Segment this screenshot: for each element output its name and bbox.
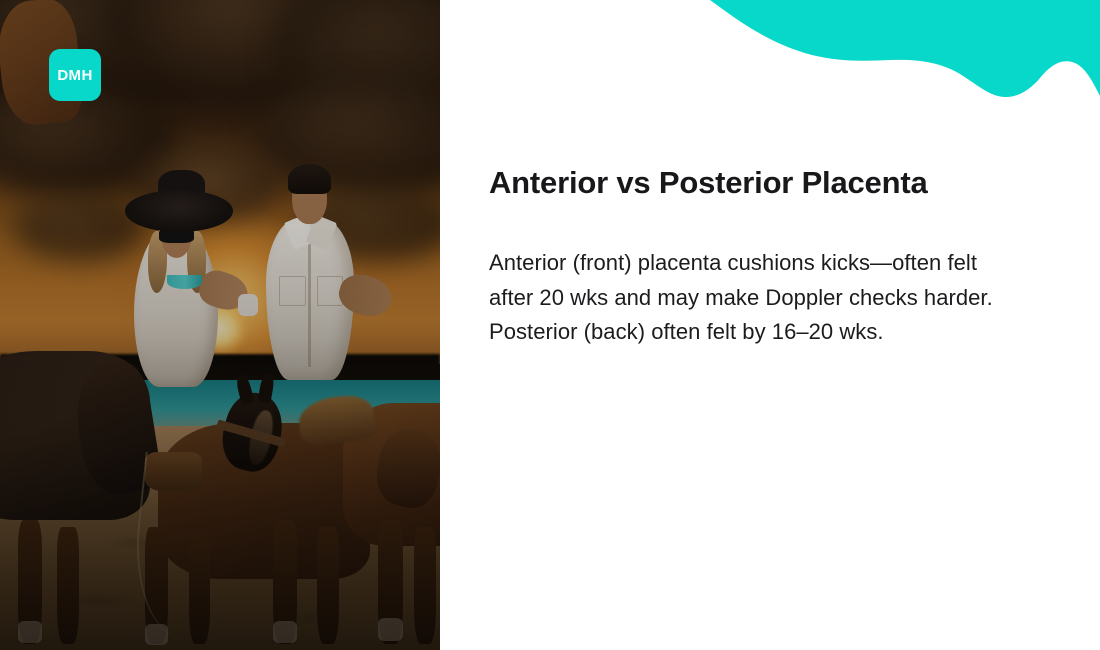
content-panel: Anterior vs Posterior Placenta Anterior …: [440, 0, 1100, 650]
media-panel: DMH: [0, 0, 440, 650]
slide-root: DMH Anterior vs Posterior Placenta Anter…: [0, 0, 1100, 650]
logo-badge[interactable]: DMH: [49, 49, 101, 101]
text-block: Anterior vs Posterior Placenta Anterior …: [489, 164, 1009, 350]
page-title: Anterior vs Posterior Placenta: [489, 164, 1009, 202]
wave-decoration: [440, 0, 1100, 120]
body-paragraph: Anterior (front) placenta cushions kicks…: [489, 246, 1009, 350]
logo-badge-text: DMH: [57, 68, 92, 83]
